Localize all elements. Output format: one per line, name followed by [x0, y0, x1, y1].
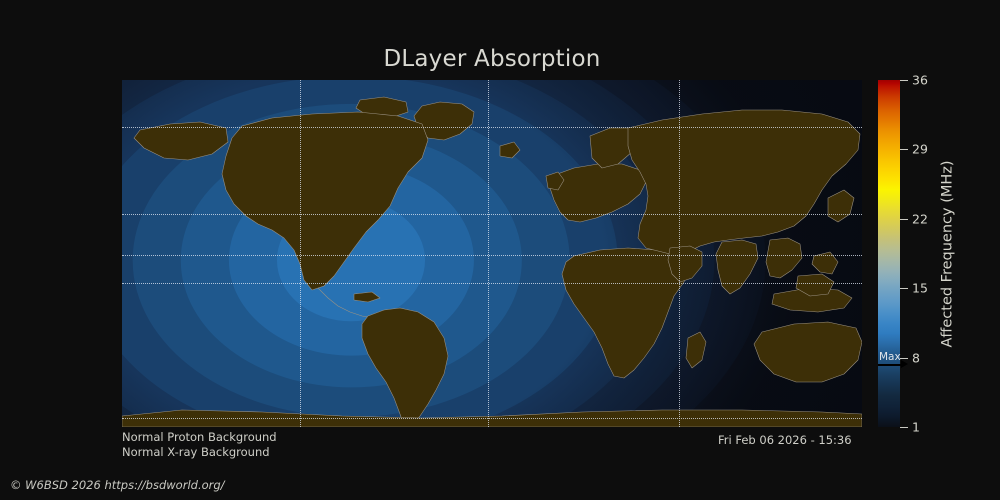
dlayer-absorption-app: DLayer Absorption [0, 0, 1000, 500]
landmass-asia [628, 110, 860, 256]
colorbar-axis-title-text: Affected Frequency (MHz) [940, 160, 956, 347]
landmass-africa [562, 248, 688, 378]
landmass-antarctica [122, 410, 862, 427]
landmass-philippines [812, 252, 838, 274]
continents-layer [122, 80, 862, 427]
landmass-india [716, 240, 758, 294]
landmass-europe [550, 164, 646, 222]
max-marker-label: Max [879, 352, 901, 363]
colorbar-tick-36 [900, 80, 908, 81]
world-map-panel[interactable] [122, 80, 862, 427]
colorbar-axis-title: Affected Frequency (MHz) [938, 80, 958, 427]
page-title: DLayer Absorption [0, 46, 1000, 72]
landmass-alaska [134, 122, 228, 160]
colorbar-tick-29 [900, 149, 908, 150]
proton-background-note: Normal Proton Background [122, 430, 277, 444]
colorbar-label-8: 8 [912, 350, 920, 365]
landmass-south-america [362, 308, 448, 426]
colorbar-label-1: 1 [912, 420, 920, 435]
landmass-southeast-asia [766, 238, 802, 278]
landmass-madagascar [686, 332, 706, 368]
colorbar-tick-22 [900, 219, 908, 220]
colorbar-label-15: 15 [912, 281, 928, 296]
colorbar-gradient [878, 80, 900, 427]
colorbar-tick-8 [900, 358, 908, 359]
landmass-north-america [222, 112, 428, 290]
colorbar-label-29: 29 [912, 142, 928, 157]
continents-svg [122, 80, 862, 427]
colorbar-label-36: 36 [912, 73, 928, 88]
timestamp-label: Fri Feb 06 2026 - 15:36 [718, 433, 852, 447]
landmass-australia [754, 322, 862, 382]
max-marker-arrow-icon [878, 364, 902, 366]
landmass-iceland [500, 142, 520, 158]
xray-background-note: Normal X-ray Background [122, 445, 270, 459]
colorbar-label-22: 22 [912, 211, 928, 226]
colorbar-tick-15 [900, 288, 908, 289]
landmass-caribbean [354, 292, 380, 302]
colorbar-tick-1 [900, 427, 908, 428]
colorbar[interactable]: 36 29 22 15 8 1 Max [878, 80, 900, 427]
page-title-text: DLayer Absorption [383, 46, 600, 72]
landmass-japan [828, 190, 854, 222]
copyright-footer: © W6BSD 2026 https://bsdworld.org/ [10, 478, 225, 492]
